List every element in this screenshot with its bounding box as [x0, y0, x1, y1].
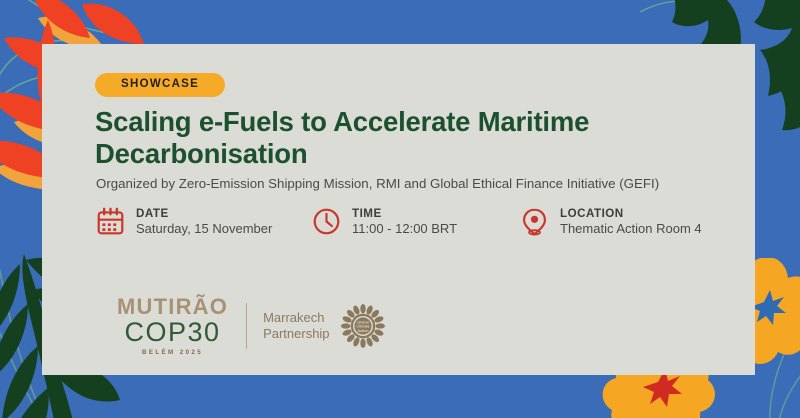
- event-organizers: Organized by Zero-Emission Shipping Miss…: [96, 175, 756, 192]
- content-card: SHOWCASE Scaling e-Fuels to Accelerate M…: [42, 44, 755, 375]
- detail-location-label: LOCATION: [560, 208, 702, 220]
- showcase-badge: SHOWCASE: [95, 73, 225, 97]
- detail-time-value: 11:00 - 12:00 BRT: [352, 222, 457, 235]
- marrakech-line-2: Partnership: [263, 326, 329, 342]
- belem-2025-text: BELÉM 2025: [142, 350, 203, 356]
- flower-center-blue: [750, 290, 786, 325]
- seal-line-3: Action: [357, 328, 368, 333]
- event-banner: SHOWCASE Scaling e-Fuels to Accelerate M…: [0, 0, 800, 418]
- location-pin-icon: [520, 207, 549, 236]
- detail-time-label: TIME: [352, 208, 457, 220]
- clock-icon: [312, 207, 341, 236]
- calendar-icon: [96, 207, 125, 236]
- marrakech-line-1: Marrakech: [263, 310, 329, 326]
- detail-location-value: Thematic Action Room 4: [560, 222, 702, 235]
- logo-row: MUTIRÃO COP30 BELÉM 2025 Marrakech Partn…: [117, 296, 386, 356]
- global-climate-action-seal-icon: Global Climate Action: [340, 303, 386, 349]
- detail-time: TIME 11:00 - 12:00 BRT: [312, 207, 457, 236]
- mutirao-wordmark: MUTIRÃO: [117, 296, 228, 318]
- detail-location: LOCATION Thematic Action Room 4: [520, 207, 702, 236]
- marrakech-partnership-logo: Marrakech Partnership Global Climate Act…: [246, 303, 385, 349]
- detail-date: DATE Saturday, 15 November: [96, 207, 272, 236]
- detail-date-value: Saturday, 15 November: [136, 222, 272, 235]
- cop30-logo: MUTIRÃO COP30 BELÉM 2025: [117, 296, 228, 356]
- event-title: Scaling e-Fuels to Accelerate Maritime D…: [95, 106, 735, 170]
- cop30-wordmark: COP30: [125, 319, 221, 346]
- marrakech-partnership-text: Marrakech Partnership: [263, 310, 329, 343]
- detail-date-label: DATE: [136, 208, 272, 220]
